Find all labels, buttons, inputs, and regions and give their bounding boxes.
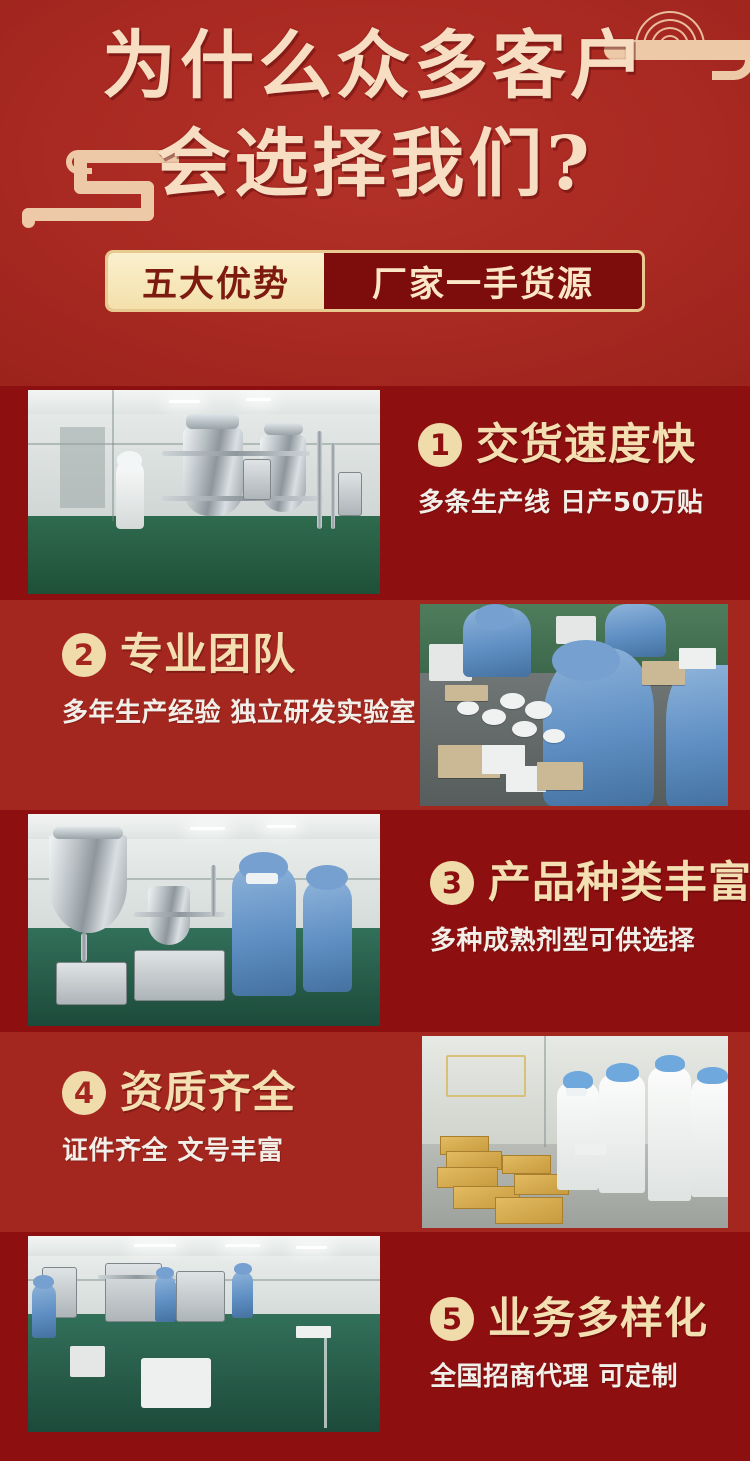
feature-3-text: 3 产品种类丰富 多种成熟剂型可供选择: [430, 858, 750, 958]
feature-1-subtitle: 多条生产线 日产50万贴: [418, 486, 703, 520]
feature-1-text: 1 交货速度快 多条生产线 日产50万贴: [418, 420, 703, 520]
feature-2-text: 2 专业团队 多年生产经验 独立研发实验室: [62, 630, 416, 730]
feature-5-subtitle: 全国招商代理 可定制: [430, 1360, 708, 1394]
feature-2-title: 专业团队: [120, 630, 296, 680]
feature-row-3: 3 产品种类丰富 多种成熟剂型可供选择: [0, 810, 750, 1032]
title-line-2: 会选择我们?: [0, 120, 750, 208]
feature-5-text: 5 业务多样化 全国招商代理 可定制: [430, 1294, 708, 1394]
feature-3-title: 产品种类丰富: [488, 858, 750, 908]
feature-5-photo: [28, 1236, 380, 1432]
feature-row-1: 1 交货速度快 多条生产线 日产50万贴: [0, 386, 750, 600]
badge-right-label: 厂家一手货源: [324, 253, 642, 309]
feature-3-photo: [28, 814, 380, 1026]
feature-row-2: 2 专业团队 多年生产经验 独立研发实验室: [0, 600, 750, 810]
feature-3-subtitle: 多种成熟剂型可供选择: [430, 924, 750, 958]
feature-4-photo: [422, 1036, 728, 1228]
title-line-1: 为什么众多客户: [0, 22, 750, 110]
feature-1-title: 交货速度快: [476, 420, 696, 470]
feature-3-number: 3: [430, 861, 474, 905]
page-title: 为什么众多客户 会选择我们?: [0, 22, 750, 208]
feature-1-photo: [28, 390, 380, 594]
feature-4-text: 4 资质齐全 证件齐全 文号丰富: [62, 1068, 296, 1168]
promo-poster: 为什么众多客户 会选择我们? 五大优势 厂家一手货源: [0, 0, 750, 1461]
advantage-badge: 五大优势 厂家一手货源: [105, 250, 645, 312]
badge-left-label: 五大优势: [108, 253, 324, 309]
poster-header: 为什么众多客户 会选择我们? 五大优势 厂家一手货源: [0, 0, 750, 386]
feature-row-5: 5 业务多样化 全国招商代理 可定制: [0, 1232, 750, 1461]
feature-5-title: 业务多样化: [488, 1294, 708, 1344]
feature-2-photo: [420, 604, 728, 806]
feature-2-subtitle: 多年生产经验 独立研发实验室: [62, 696, 416, 730]
feature-4-title: 资质齐全: [120, 1068, 296, 1118]
feature-5-number: 5: [430, 1297, 474, 1341]
feature-1-number: 1: [418, 423, 462, 467]
feature-4-subtitle: 证件齐全 文号丰富: [62, 1134, 296, 1168]
feature-row-4: 4 资质齐全 证件齐全 文号丰富: [0, 1032, 750, 1232]
feature-4-number: 4: [62, 1071, 106, 1115]
feature-2-number: 2: [62, 633, 106, 677]
